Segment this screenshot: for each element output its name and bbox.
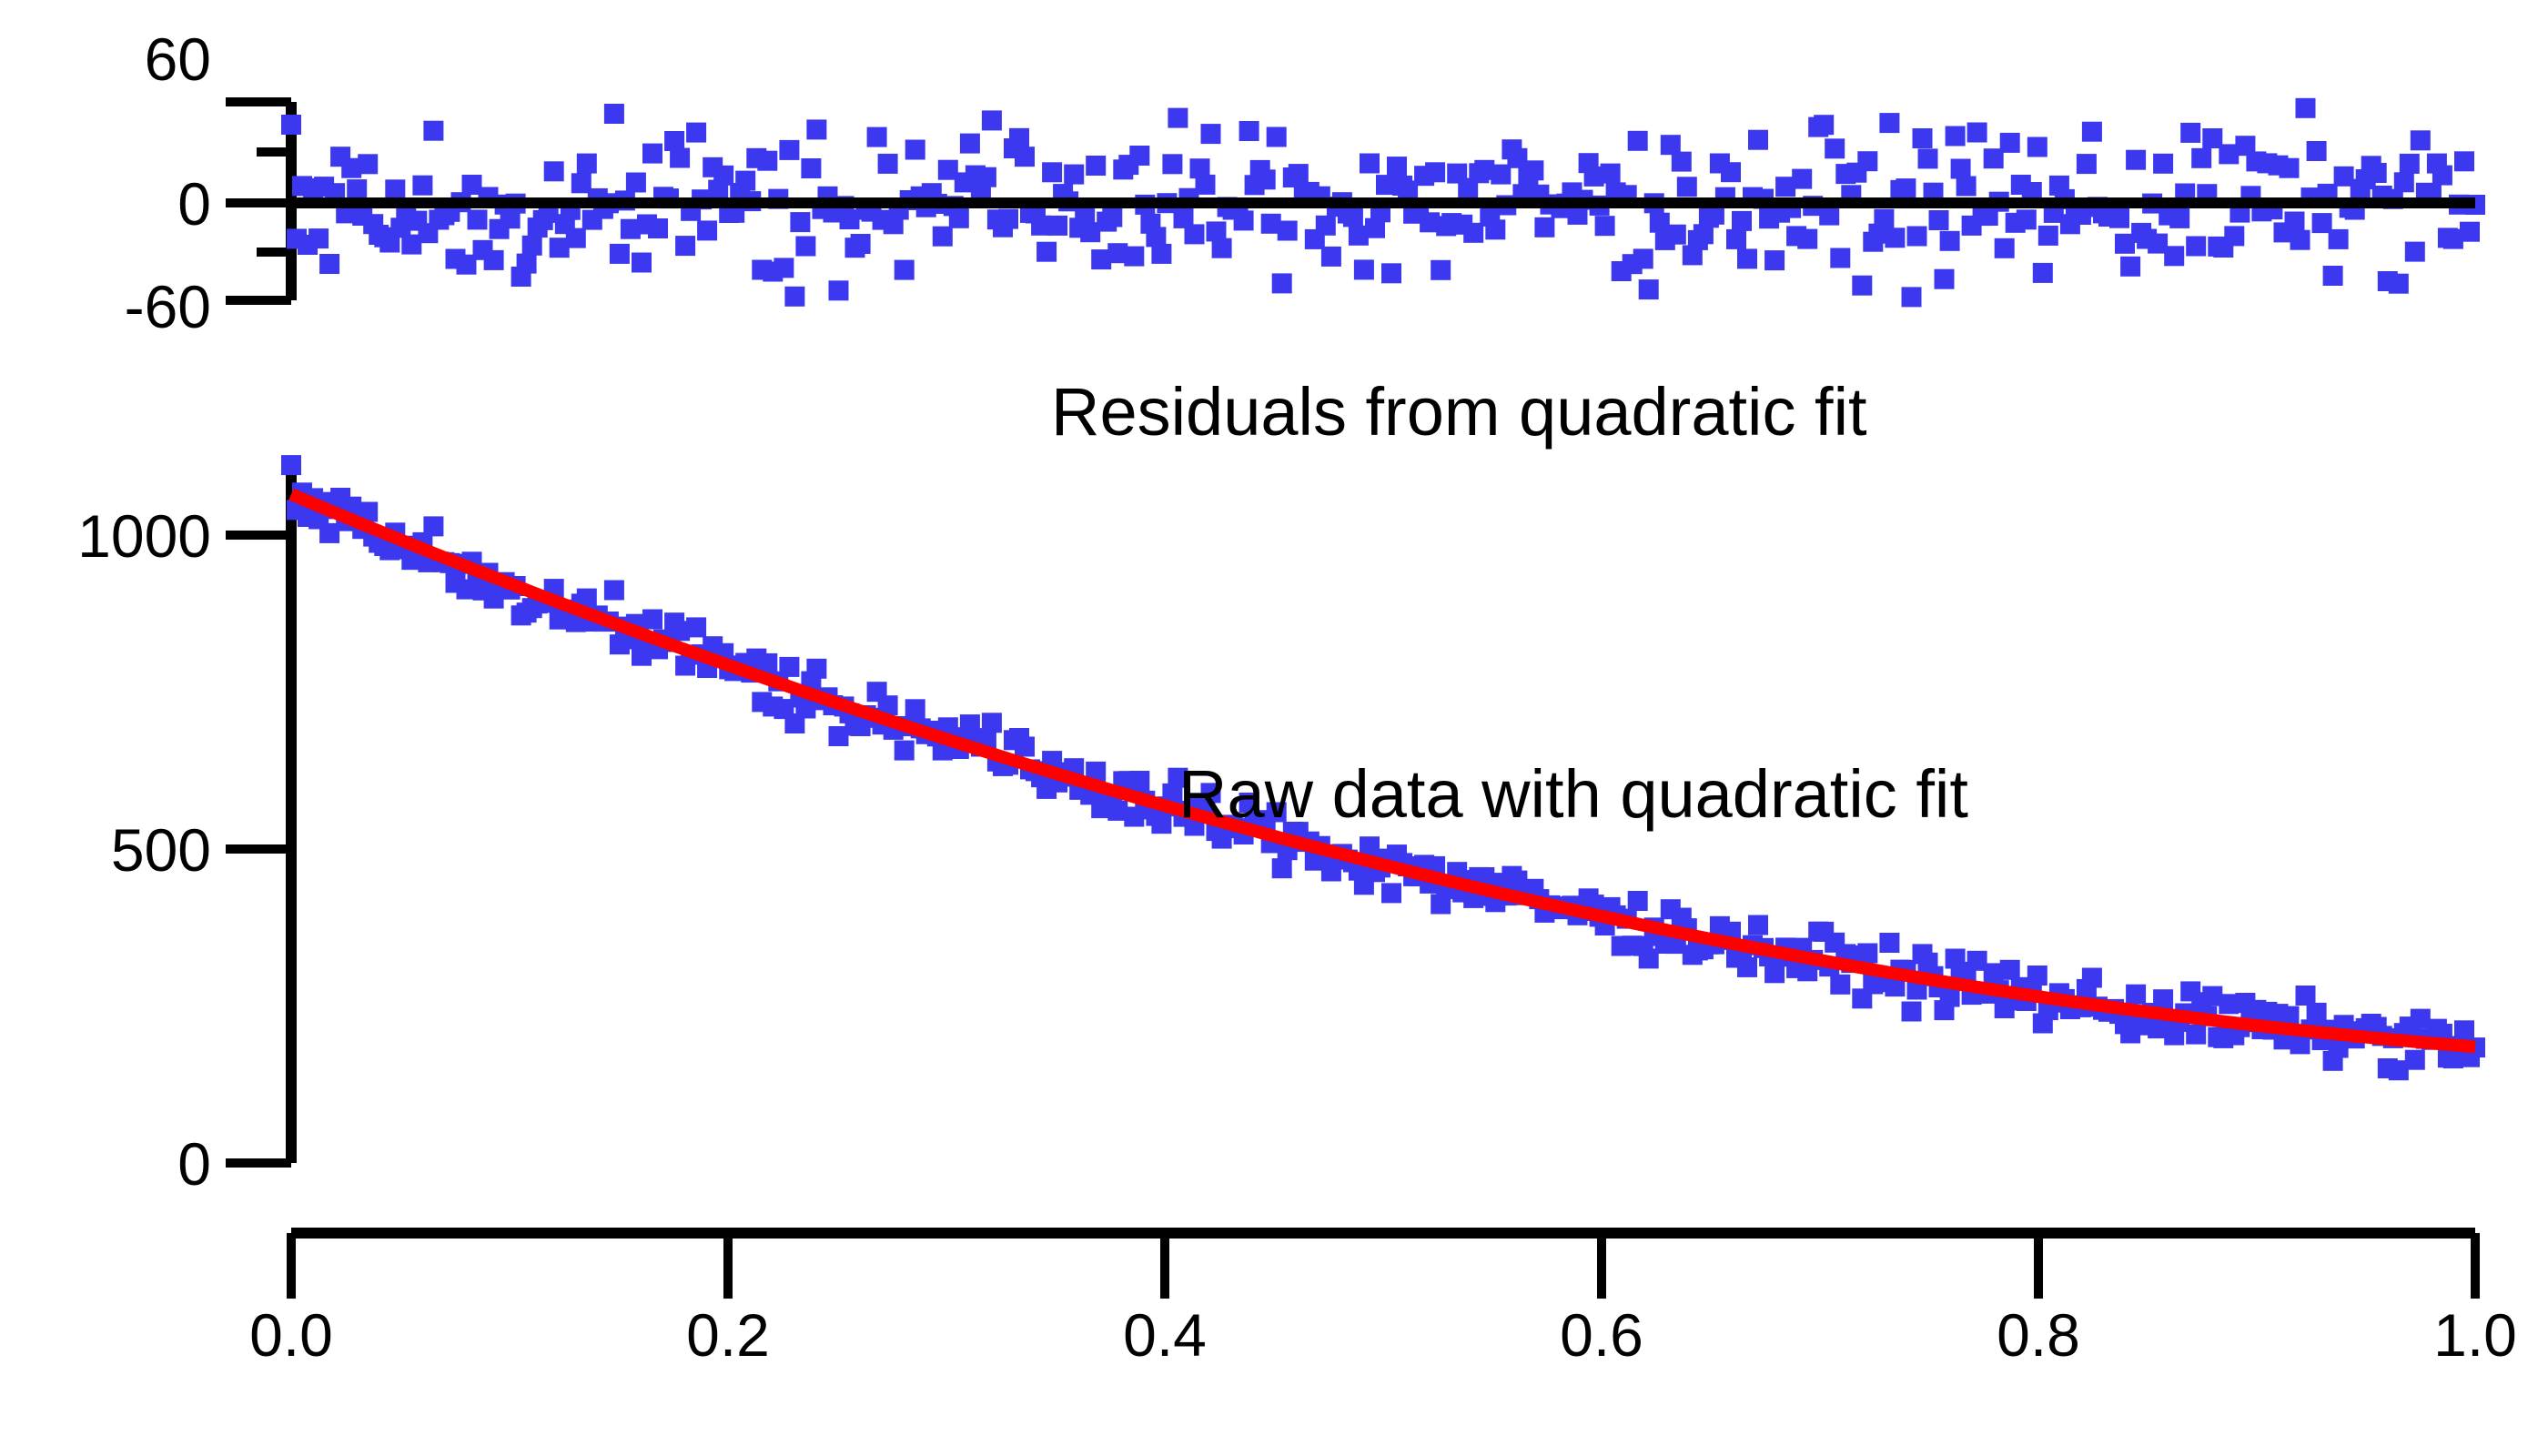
data-point-marker — [867, 127, 887, 147]
data-point-marker — [1354, 259, 1374, 279]
data-point-marker — [1256, 169, 1276, 189]
data-point-marker — [2027, 966, 2047, 986]
data-point-marker — [1124, 247, 1144, 267]
data-point-marker — [1995, 238, 2015, 258]
data-point-marker — [801, 158, 821, 178]
data-point-marker — [1047, 216, 1067, 236]
data-point-marker — [604, 581, 624, 601]
data-point-marker — [1239, 121, 1259, 141]
data-point-marker — [1792, 169, 1812, 189]
data-point-marker — [544, 161, 564, 181]
data-point-marker — [2082, 122, 2102, 142]
data-point-marker — [2224, 226, 2244, 246]
data-point-marker — [2400, 154, 2420, 174]
data-point-marker — [1732, 211, 1752, 231]
data-point-marker — [697, 220, 717, 240]
data-point-marker — [604, 104, 624, 124]
data-point-marker — [1628, 891, 1648, 911]
data-point-marker — [522, 236, 542, 256]
data-point-marker — [806, 659, 826, 679]
data-point-marker — [626, 173, 646, 193]
data-point-marker — [2307, 141, 2327, 161]
data-point-marker — [1595, 216, 1615, 236]
data-point-marker — [2405, 1050, 2425, 1070]
data-point-marker — [686, 617, 706, 637]
data-point-marker — [1272, 273, 1292, 293]
data-point-marker — [1212, 238, 1232, 258]
data-point-marker — [1737, 957, 1757, 977]
data-point-marker — [1168, 108, 1188, 128]
data-point-marker — [1902, 1002, 1922, 1022]
data-point-marker — [577, 154, 597, 174]
data-point-marker — [648, 218, 668, 238]
data-point-marker — [1601, 164, 1621, 184]
data-point-marker — [2329, 229, 2349, 249]
raw-xtick-label-1: 0.2 — [686, 1301, 770, 1369]
residual-panel: 60 0 -60 Residuals from quadratic fit — [125, 25, 2485, 450]
data-point-marker — [642, 144, 662, 164]
data-point-marker — [982, 110, 1002, 130]
data-point-marker — [2033, 263, 2053, 283]
data-point-marker — [1748, 915, 1768, 935]
data-point-marker — [1201, 124, 1221, 144]
residual-ytick-label-60: 60 — [145, 25, 211, 93]
data-point-marker — [1946, 126, 1966, 147]
data-point-marker — [2038, 226, 2058, 246]
data-point-marker — [895, 260, 915, 280]
data-point-marker — [878, 154, 898, 174]
data-point-marker — [2454, 1020, 2474, 1040]
data-point-marker — [2460, 222, 2480, 242]
data-point-marker — [517, 254, 537, 274]
data-point-marker — [1628, 131, 1648, 151]
data-point-marker — [2017, 209, 2037, 229]
data-point-marker — [1885, 227, 1905, 248]
data-point-marker — [1278, 221, 1298, 241]
data-point-marker — [1151, 244, 1171, 264]
data-point-marker — [1086, 156, 1106, 176]
raw-xtick-label-5: 1.0 — [2433, 1301, 2517, 1369]
data-point-marker — [829, 280, 849, 300]
data-point-marker — [2186, 1025, 2206, 1045]
data-point-marker — [1726, 229, 1746, 249]
data-point-marker — [642, 610, 662, 630]
data-point-marker — [1162, 154, 1182, 174]
data-point-marker — [779, 657, 799, 677]
data-point-marker — [2153, 154, 2173, 174]
data-point-marker — [1639, 279, 1659, 299]
raw-ytick-label-0: 0 — [177, 1130, 211, 1198]
data-point-marker — [1272, 858, 1292, 878]
data-point-marker — [2191, 148, 2211, 168]
data-point-marker — [2186, 237, 2206, 257]
data-point-marker — [1196, 175, 1216, 195]
data-point-marker — [2077, 154, 2097, 174]
data-point-marker — [1267, 127, 1287, 147]
data-point-marker — [1036, 242, 1057, 262]
data-point-marker — [1830, 248, 1850, 268]
data-point-marker — [1721, 162, 1741, 182]
data-point-marker — [675, 236, 695, 256]
data-point-marker — [1764, 250, 1785, 270]
data-point-marker — [1534, 217, 1554, 238]
data-point-marker — [1185, 224, 1205, 244]
data-point-marker — [1015, 147, 1035, 167]
data-point-marker — [1485, 219, 1505, 239]
data-point-marker — [2290, 230, 2310, 250]
data-point-marker — [779, 140, 799, 160]
data-point-marker — [2180, 123, 2200, 143]
data-point-marker — [2454, 151, 2474, 171]
data-point-marker — [976, 167, 996, 187]
residual-ytick-label-minus60: -60 — [125, 273, 211, 340]
data-point-marker — [1381, 263, 1401, 283]
raw-panel: 1000 500 0 0.0 0.2 0.4 0.6 0.8 1.0 Raw d… — [77, 455, 2517, 1369]
data-point-marker — [1879, 933, 1899, 953]
data-point-marker — [1918, 148, 1938, 168]
raw-ytick-label-500: 500 — [111, 816, 211, 884]
data-point-marker — [2126, 150, 2146, 170]
data-point-marker — [1321, 247, 1341, 267]
data-point-marker — [1929, 210, 1949, 230]
data-point-marker — [1425, 162, 1445, 182]
data-point-marker — [1852, 276, 1872, 296]
data-point-marker — [1748, 130, 1768, 150]
data-point-marker — [385, 179, 405, 199]
data-point-marker — [1289, 164, 1309, 184]
data-point-marker — [1956, 177, 1977, 197]
data-point-marker — [2164, 246, 2184, 266]
data-point-marker — [423, 516, 443, 536]
data-point-marker — [1151, 814, 1171, 834]
data-point-marker — [784, 287, 804, 307]
data-point-marker — [2296, 98, 2316, 118]
data-point-marker — [2109, 208, 2129, 228]
data-point-marker — [933, 227, 953, 247]
data-point-marker — [713, 166, 733, 186]
data-point-marker — [2323, 266, 2343, 286]
raw-panel-title: Raw data with quadratic fit — [1178, 756, 1968, 832]
data-point-marker — [1797, 229, 1817, 249]
data-point-marker — [1360, 154, 1380, 174]
data-point-marker — [1343, 207, 1363, 227]
data-point-marker — [1935, 269, 1955, 289]
data-point-marker — [1672, 152, 1692, 172]
data-point-marker — [484, 250, 504, 270]
data-point-marker — [347, 179, 367, 199]
data-point-marker — [949, 208, 969, 228]
data-point-marker — [2027, 137, 2047, 157]
data-point-marker — [982, 713, 1002, 733]
residual-ytick-label-0: 0 — [177, 170, 211, 238]
data-point-marker — [1857, 944, 1877, 964]
raw-xtick-label-4: 0.8 — [1997, 1301, 2080, 1369]
data-point-marker — [1825, 138, 1845, 158]
data-point-marker — [795, 237, 815, 257]
data-point-marker — [2120, 257, 2140, 277]
data-point-marker — [1234, 210, 1254, 230]
data-point-marker — [1129, 146, 1149, 166]
data-point-marker — [2285, 212, 2305, 232]
data-point-marker — [1523, 160, 1543, 180]
data-point-marker — [2389, 274, 2409, 294]
data-point-marker — [1951, 159, 1971, 179]
data-point-marker — [1913, 128, 1933, 148]
data-point-marker — [1381, 883, 1401, 903]
data-point-marker — [1129, 771, 1149, 791]
data-point-marker — [281, 455, 301, 475]
data-point-marker — [1907, 227, 1927, 247]
data-point-marker — [1874, 209, 1894, 229]
data-point-marker — [2000, 960, 2020, 980]
raw-xtick-label-0: 0.0 — [249, 1301, 333, 1369]
data-point-marker — [610, 244, 630, 264]
raw-xtick-label-2: 0.4 — [1123, 1301, 1207, 1369]
data-point-marker — [1902, 287, 1922, 307]
data-point-marker — [2280, 158, 2300, 178]
data-point-marker — [1042, 162, 1062, 182]
data-point-marker — [1666, 225, 1686, 245]
data-point-marker — [806, 119, 826, 139]
data-point-marker — [895, 741, 915, 761]
data-point-marker — [2169, 208, 2189, 228]
data-point-marker — [2411, 130, 2431, 150]
data-point-marker — [773, 258, 794, 278]
figure-canvas: 60 0 -60 Residuals from quadratic fit 10… — [0, 0, 2548, 1456]
data-point-marker — [1633, 248, 1653, 268]
data-point-marker — [2153, 989, 2173, 1009]
raw-ytick-label-1000: 1000 — [77, 502, 211, 570]
data-point-marker — [1857, 151, 1877, 171]
data-point-marker — [1316, 216, 1336, 236]
data-point-marker — [1015, 737, 1035, 757]
data-point-marker — [1387, 157, 1407, 177]
data-point-marker — [1431, 260, 1451, 280]
data-point-marker — [1940, 231, 1960, 251]
data-point-marker — [670, 148, 690, 168]
data-point-marker — [1064, 165, 1084, 185]
data-point-marker — [281, 115, 301, 135]
data-point-marker — [319, 254, 339, 274]
data-point-marker — [2405, 242, 2425, 262]
data-point-marker — [1102, 207, 1122, 227]
data-point-marker — [905, 140, 925, 160]
data-point-marker — [2126, 985, 2146, 1005]
data-point-marker — [632, 253, 652, 273]
raw-xtick-label-3: 0.6 — [1560, 1301, 1643, 1369]
data-point-marker — [2367, 163, 2387, 183]
data-point-marker — [1896, 178, 1916, 198]
data-point-marker — [2082, 968, 2102, 988]
raw-x-axis-ticks — [291, 1233, 2475, 1299]
data-point-marker — [686, 123, 706, 143]
data-point-marker — [851, 234, 871, 254]
data-point-marker — [905, 699, 925, 719]
data-point-marker — [2000, 133, 2020, 153]
data-point-marker — [1830, 975, 1850, 995]
data-point-marker — [412, 176, 432, 196]
data-point-marker — [1009, 128, 1029, 148]
data-point-marker — [757, 151, 777, 171]
data-point-marker — [468, 209, 488, 229]
data-point-marker — [423, 121, 443, 141]
data-point-marker — [960, 134, 980, 154]
data-point-marker — [1737, 248, 1757, 268]
data-point-marker — [790, 212, 810, 232]
data-point-marker — [1677, 177, 1697, 197]
data-point-marker — [1967, 123, 1987, 143]
data-point-marker — [2394, 172, 2414, 192]
data-point-marker — [566, 228, 586, 248]
chart-figure: 60 0 -60 Residuals from quadratic fit 10… — [0, 0, 2548, 1456]
data-point-marker — [2296, 986, 2316, 1006]
data-point-marker — [735, 171, 755, 191]
residual-panel-title: Residuals from quadratic fit — [1051, 374, 1867, 450]
data-point-marker — [358, 154, 378, 174]
data-point-marker — [2432, 166, 2452, 186]
data-point-marker — [998, 209, 1018, 229]
data-point-marker — [1879, 113, 1899, 133]
data-point-marker — [1814, 115, 1834, 135]
data-point-marker — [308, 228, 329, 248]
